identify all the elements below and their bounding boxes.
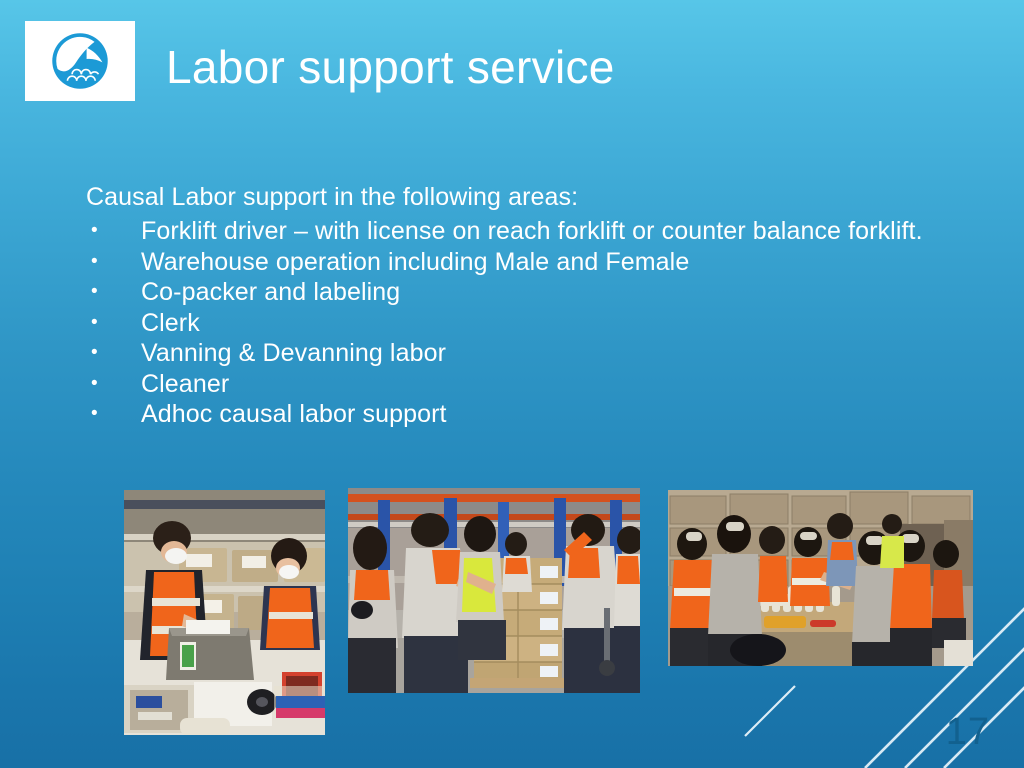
list-item: Adhoc causal labor support: [86, 399, 946, 430]
page-number: 17: [946, 710, 990, 754]
list-item: Warehouse operation including Male and F…: [86, 247, 946, 278]
bullet-list: Forklift driver – with license on reach …: [86, 216, 946, 430]
content-block: Causal Labor support in the following ar…: [86, 182, 946, 430]
list-item: Forklift driver – with license on reach …: [86, 216, 946, 247]
list-item: Vanning & Devanning labor: [86, 338, 946, 369]
slide-title: Labor support service: [166, 38, 615, 96]
photo-group-sorting: [668, 490, 973, 666]
photo-packing-station: [124, 490, 325, 735]
list-item: Clerk: [86, 308, 946, 339]
photo-carton-stacking: [348, 488, 640, 693]
list-item: Co-packer and labeling: [86, 277, 946, 308]
intro-line: Causal Labor support in the following ar…: [86, 182, 946, 213]
company-logo-icon: [47, 28, 113, 94]
company-logo-box: [25, 21, 135, 101]
slide: Labor support service Causal Labor suppo…: [0, 0, 1024, 768]
list-item: Cleaner: [86, 369, 946, 400]
